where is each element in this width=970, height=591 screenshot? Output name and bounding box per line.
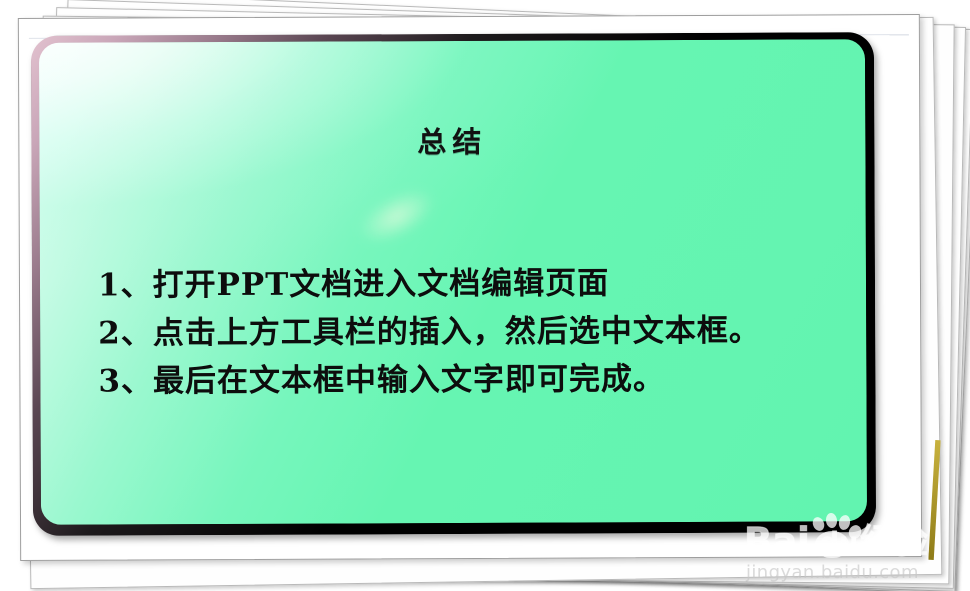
slide-body-line-1: 1、打开PPT文档进入文档编辑页面	[98, 258, 846, 309]
slide-canvas: 总结 1、打开PPT文档进入文档编辑页面 2、点击上方工具栏的插入，然后选中文本…	[39, 39, 867, 525]
slide-body-line-3: 3、最后在文本框中输入文字即可完成。	[98, 354, 846, 405]
screenshot-stage: 总结 1、打开PPT文档进入文档编辑页面 2、点击上方工具栏的插入，然后选中文本…	[0, 0, 970, 591]
slide-title: 总结	[39, 117, 865, 163]
lens-flare-decoration	[330, 161, 464, 271]
slide-body-line-2: 2、点击上方工具栏的插入，然后选中文本框。	[98, 306, 846, 357]
presentation-slide: 总结 1、打开PPT文档进入文档编辑页面 2、点击上方工具栏的插入，然后选中文本…	[31, 32, 876, 536]
slide-border-frame: 总结 1、打开PPT文档进入文档编辑页面 2、点击上方工具栏的插入，然后选中文本…	[31, 32, 876, 536]
slide-body-list: 1、打开PPT文档进入文档编辑页面 2、点击上方工具栏的插入，然后选中文本框。 …	[98, 258, 847, 405]
